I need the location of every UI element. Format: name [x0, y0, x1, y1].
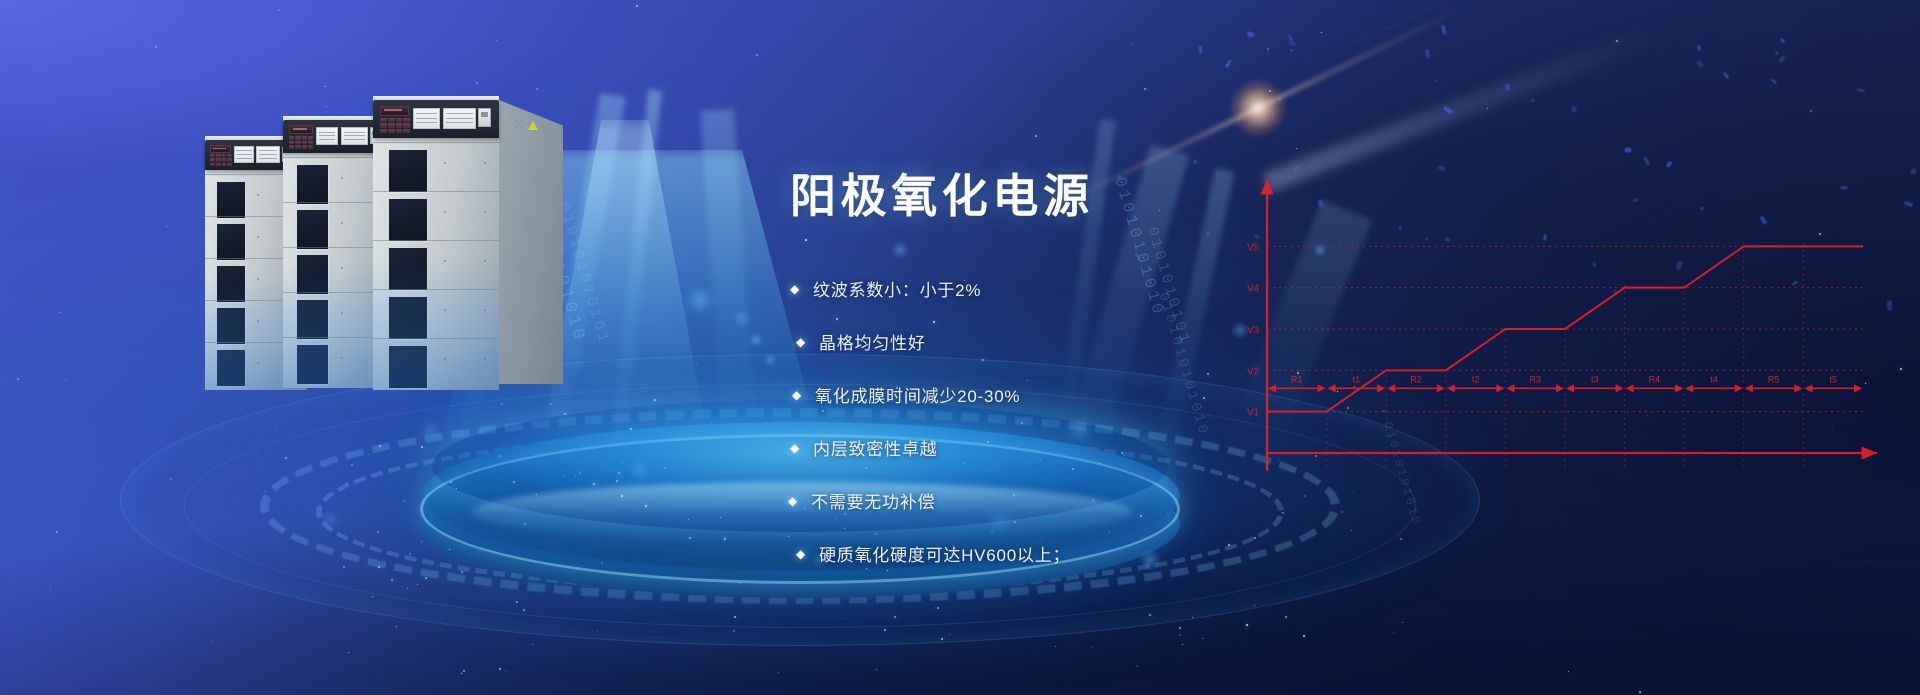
plate-text-line — [319, 132, 336, 133]
keypad-button[interactable] — [222, 163, 227, 166]
chart-voltage-curve — [1267, 246, 1863, 411]
cabinet-label-plate — [234, 146, 254, 163]
plate-text-line — [344, 139, 365, 140]
cabinet-side-panel — [499, 100, 563, 384]
cabinet-vent-panel — [389, 297, 427, 339]
chart-y-tick-label: V3 — [1247, 325, 1260, 336]
cabinet-label-plate — [443, 108, 476, 129]
cabinet-panel-seam — [283, 157, 387, 158]
chart-dimension-arrow — [1496, 384, 1504, 392]
plate-text-line — [446, 122, 472, 123]
chart-dimension-arrow — [1437, 384, 1445, 392]
cabinet-panel-seam — [373, 289, 499, 290]
chart-segment-label: t5 — [1829, 374, 1837, 384]
plate-text-line — [319, 135, 336, 136]
keypad-button[interactable] — [227, 158, 232, 161]
product-banner: 0101010101010010101010101010101010100101… — [0, 0, 1920, 695]
chart-y-tick-label: V5 — [1247, 242, 1260, 253]
voltage-profile-chart: V1V2V3V4V5R1t1R2t2R3t3R4t4R5t5 — [1245, 185, 1875, 485]
keypad-button[interactable] — [380, 118, 387, 122]
chart-segment-label: R1 — [1291, 374, 1303, 384]
cabinet-lcd-display[interactable] — [380, 106, 409, 116]
keypad-button[interactable] — [289, 141, 294, 145]
chart-dimension-arrow — [1854, 384, 1862, 392]
chart-dimension-arrow — [1794, 384, 1802, 392]
plate-text-line — [236, 158, 251, 159]
cabinet-screw — [484, 162, 486, 164]
keypad-button[interactable] — [403, 129, 410, 133]
chart-segment-label: t2 — [1472, 374, 1480, 384]
cabinet-panel-seam — [283, 247, 387, 248]
cabinet-screw — [341, 357, 343, 359]
chart-segment-label: t4 — [1710, 374, 1718, 384]
cabinet-vent-panel — [297, 300, 328, 339]
feature-list-item-label: 氧化成膜时间减少20-30% — [815, 382, 1020, 407]
cabinet-panel-seam — [373, 142, 499, 143]
power-cabinet — [283, 120, 387, 388]
power-supply-cabinets — [205, 100, 595, 430]
chart-y-tick-label: V1 — [1247, 408, 1260, 419]
chart-dimension-arrow — [1626, 384, 1634, 392]
cabinet-hood-top — [373, 96, 499, 100]
keypad-button[interactable] — [216, 158, 221, 161]
plate-text-line — [259, 154, 277, 155]
cabinet-vent-panel — [217, 266, 245, 302]
chart-dimension-arrow — [1387, 384, 1395, 392]
feature-list-item-label: 不需要无功补偿 — [811, 488, 935, 513]
keypad-button[interactable] — [308, 145, 313, 149]
cabinet-screw — [257, 278, 259, 280]
chart-segment-label: R3 — [1529, 374, 1541, 384]
diamond-bullet-icon: ◆ — [788, 494, 798, 508]
keypad-button[interactable] — [222, 154, 227, 157]
chart-dimension-arrow — [1268, 384, 1276, 392]
keypad-button[interactable] — [302, 145, 307, 149]
manufacturer-logo-icon — [515, 118, 543, 134]
cabinet-vent-panel — [217, 308, 245, 344]
keypad-button[interactable] — [396, 129, 403, 133]
cabinet-panel-seam — [283, 337, 387, 338]
keypad-button[interactable] — [289, 145, 294, 149]
plate-text-line — [259, 158, 277, 159]
chart-dimension-arrow — [1804, 384, 1812, 392]
diamond-bullet-icon: ◆ — [790, 282, 800, 296]
keypad-button[interactable] — [295, 145, 300, 149]
chart-dimension-arrow — [1377, 384, 1385, 392]
cabinet-vent-panel — [217, 182, 245, 218]
feature-list-item-label: 硬质氧化硬度可达HV600以上； — [819, 541, 1070, 566]
cabinet-screw — [341, 267, 343, 269]
plate-text-line — [236, 154, 251, 155]
cabinet-screw — [341, 312, 343, 314]
cabinet-screw — [484, 211, 486, 213]
cabinet-panel-seam — [373, 338, 499, 339]
cabinet-screw — [444, 260, 446, 262]
feature-list-item: ◆硬质氧化硬度可达HV600以上； — [796, 541, 1490, 566]
cabinet-vent-panel — [297, 255, 328, 294]
feature-list-item-label: 晶格均匀性好 — [819, 329, 926, 354]
plate-text-line — [416, 122, 437, 123]
keypad-button[interactable] — [388, 118, 395, 122]
cabinet-label-plate — [341, 127, 368, 145]
keypad-button[interactable] — [403, 123, 410, 127]
keypad-button[interactable] — [302, 136, 307, 140]
plate-text-line — [259, 150, 277, 151]
cabinet-meter — [478, 108, 491, 127]
chart-dimension-arrow — [1566, 384, 1574, 392]
feature-list-item-label: 内层致密性卓越 — [813, 435, 937, 460]
keypad-button[interactable] — [295, 141, 300, 145]
chart-dimension-arrow — [1616, 384, 1624, 392]
chart-dimension-arrow — [1675, 384, 1683, 392]
cabinet-screw — [444, 162, 446, 164]
diamond-bullet-icon: ◆ — [792, 388, 802, 402]
cabinet-screw — [257, 194, 259, 196]
chart-dimension-arrow — [1735, 384, 1743, 392]
cabinet-vent-panel — [389, 199, 427, 241]
keypad-button[interactable] — [380, 123, 387, 127]
chart-dimension-arrow — [1685, 384, 1693, 392]
cabinet-lcd-display[interactable] — [210, 145, 231, 153]
cabinet-label-plate — [413, 108, 440, 129]
cabinet-vent-panel — [297, 345, 328, 384]
keypad-button[interactable] — [216, 154, 221, 157]
cabinet-panel-seam — [373, 191, 499, 192]
cabinet-vent-panel — [297, 210, 328, 249]
diamond-bullet-icon: ◆ — [790, 441, 800, 455]
cabinet-hood-top — [283, 116, 387, 120]
chart-y-tick-label: V2 — [1247, 366, 1260, 377]
chart-dimension-arrow — [1318, 384, 1326, 392]
cabinet-vent-panel — [389, 346, 427, 388]
cabinet-panel-seam — [373, 240, 499, 241]
cabinet-screw — [341, 222, 343, 224]
chart-dimension-arrow — [1447, 384, 1455, 392]
lens-flare-icon — [1258, 108, 1260, 110]
plate-text-line — [319, 139, 336, 140]
keypad-button[interactable] — [227, 163, 232, 166]
cabinet-screw — [484, 260, 486, 262]
keypad-button[interactable] — [216, 163, 221, 166]
chart-dimension-arrow — [1328, 384, 1336, 392]
cabinet-label-plate — [256, 146, 280, 163]
cabinet-control-head — [283, 120, 387, 153]
diamond-bullet-icon: ◆ — [796, 335, 806, 349]
chart-segment-label: t3 — [1591, 374, 1599, 384]
light-streak — [760, 0, 1030, 61]
cabinet-screw — [444, 211, 446, 213]
cabinet-panel-seam — [283, 292, 387, 293]
plate-text-line — [236, 150, 251, 151]
plate-text-line — [446, 113, 472, 114]
plate-text-line — [416, 118, 437, 119]
chart-segment-label: R2 — [1410, 374, 1422, 384]
cabinet-lcd-display[interactable] — [289, 125, 313, 134]
keypad-button[interactable] — [222, 158, 227, 161]
plate-text-line — [416, 113, 437, 114]
plate-text-line — [446, 118, 472, 119]
keypad-button[interactable] — [295, 136, 300, 140]
chart-segment-label: R4 — [1649, 374, 1661, 384]
keypad-button[interactable] — [396, 118, 403, 122]
light-streak — [300, 0, 783, 21]
keypad-button[interactable] — [403, 118, 410, 122]
chart-dimension-arrow — [1745, 384, 1753, 392]
plate-text-line — [344, 132, 365, 133]
keypad-button[interactable] — [210, 154, 215, 157]
cabinet-screw — [444, 358, 446, 360]
chart-segment-label: t1 — [1353, 374, 1361, 384]
chart-y-tick-label: V4 — [1247, 284, 1260, 295]
cabinet-control-head — [373, 100, 499, 138]
cabinet-screw — [257, 362, 259, 364]
feature-list-item: ◆不需要无功补偿 — [788, 488, 1490, 513]
chart-dimension-arrow — [1556, 384, 1564, 392]
cabinet-panel-seam — [283, 202, 387, 203]
feature-list-item-label: 纹波系数小：小于2% — [813, 276, 981, 301]
power-cabinet — [373, 100, 499, 390]
plate-text-line — [344, 135, 365, 136]
keypad-button[interactable] — [396, 123, 403, 127]
cabinet-screw — [484, 309, 486, 311]
keypad-button[interactable] — [380, 129, 387, 133]
cabinet-screw — [341, 177, 343, 179]
cabinet-keypad[interactable] — [210, 154, 232, 166]
cabinet-vent-panel — [217, 350, 245, 386]
keypad-button[interactable] — [289, 136, 294, 140]
cabinet-screw — [484, 358, 486, 360]
chart-dimension-arrow — [1506, 384, 1514, 392]
cabinet-vent-panel — [217, 224, 245, 260]
cabinet-vent-panel — [389, 248, 427, 290]
keypad-button[interactable] — [308, 141, 313, 145]
keypad-button[interactable] — [302, 141, 307, 145]
keypad-button[interactable] — [308, 136, 313, 140]
cabinet-vent-panel — [389, 150, 427, 192]
cabinet-vent-panel — [297, 165, 328, 204]
keypad-button[interactable] — [210, 158, 215, 161]
keypad-button[interactable] — [227, 154, 232, 157]
keypad-button[interactable] — [210, 163, 215, 166]
cabinet-screw — [257, 320, 259, 322]
chart-segment-label: R5 — [1768, 374, 1780, 384]
cabinet-label-plate — [316, 127, 338, 145]
cabinet-keypad[interactable] — [289, 136, 313, 149]
keypad-button[interactable] — [388, 123, 395, 127]
cabinet-keypad[interactable] — [380, 118, 410, 133]
diamond-bullet-icon: ◆ — [796, 547, 806, 561]
cabinet-screw — [444, 309, 446, 311]
voltage-profile-svg: V1V2V3V4V5R1t1R2t2R3t3R4t4R5t5 — [1245, 185, 1875, 485]
keypad-button[interactable] — [388, 129, 395, 133]
cabinet-screw — [257, 236, 259, 238]
